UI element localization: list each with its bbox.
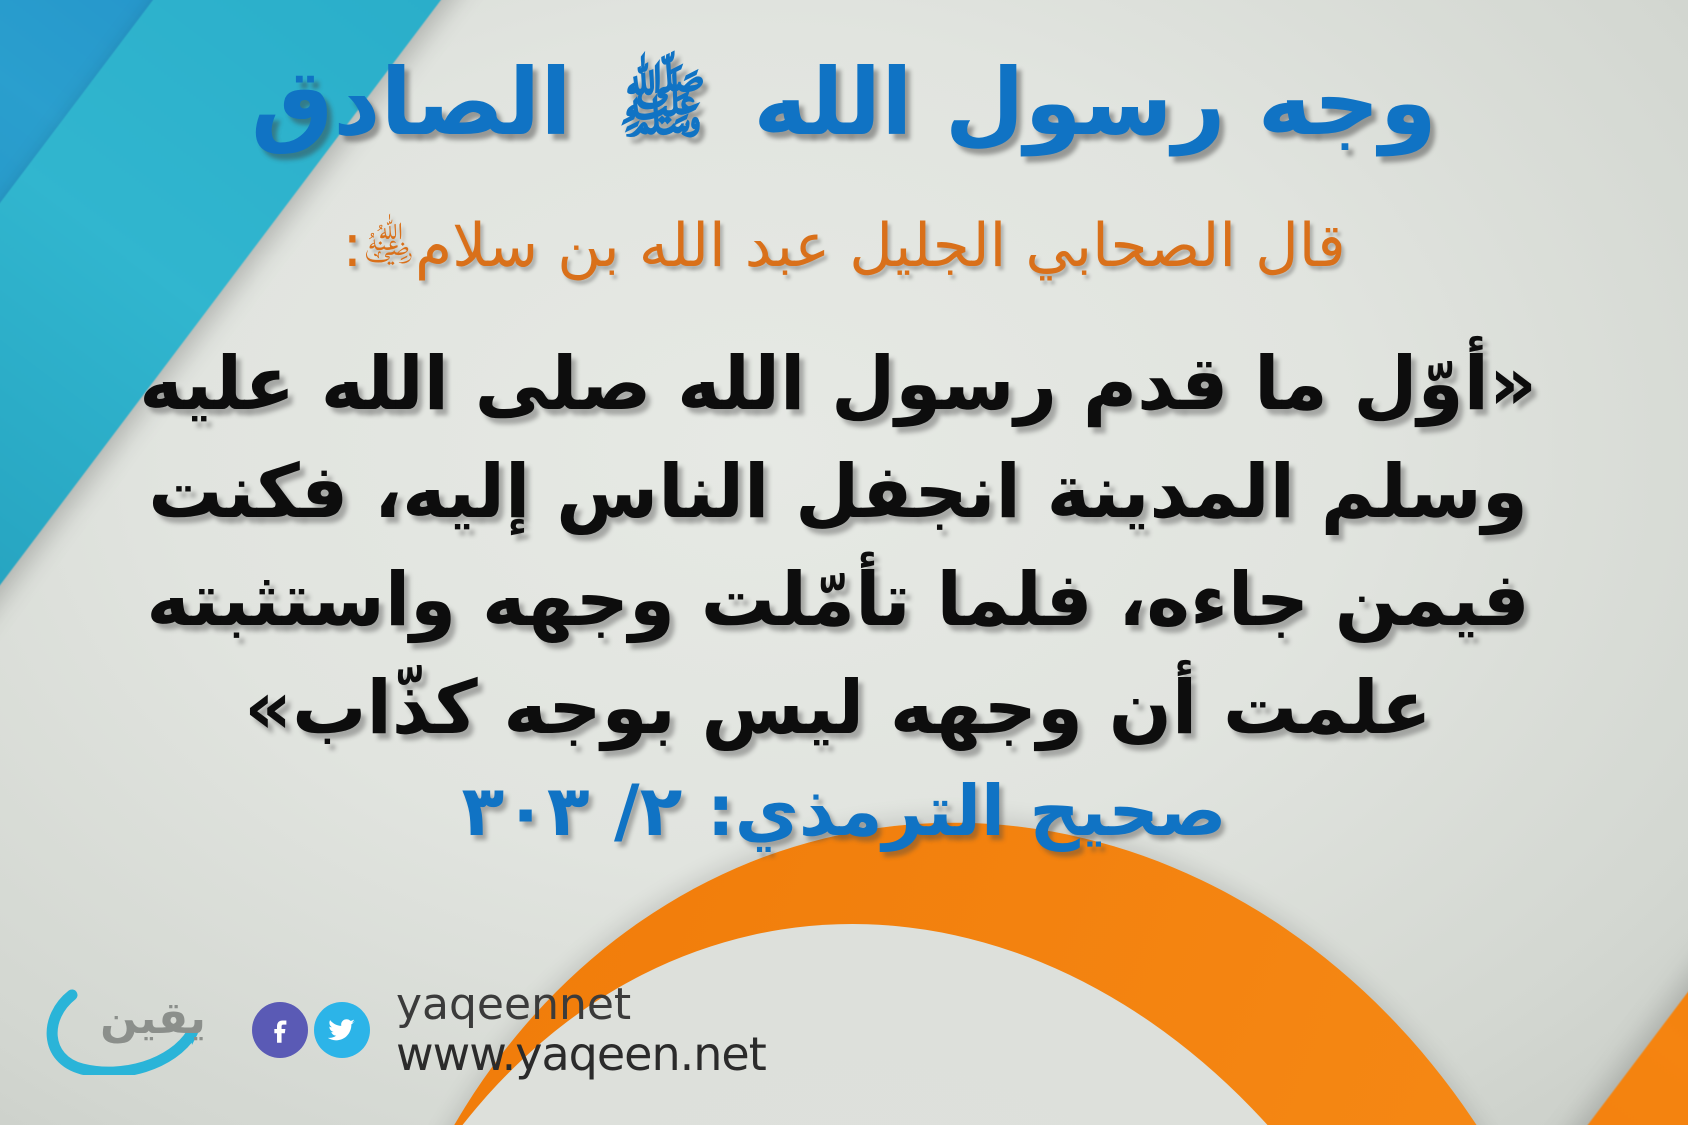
subtitle-colon: : (342, 211, 362, 281)
poster-content: وجه رسول الله ﷺ الصادق قال الصحابي الجلي… (0, 0, 1688, 1125)
footer-branding: يقين yaqeennet www.yaqeen.net (42, 981, 766, 1079)
logo-arabic-text: يقين (88, 993, 218, 1044)
title-before: وجه رسول الله (753, 49, 1437, 156)
radiyallahu-glyph-icon: ﵁ (362, 216, 415, 272)
page-title: وجه رسول الله ﷺ الصادق (0, 48, 1688, 158)
hadith-line: فيمن جاءه، فلما تأمّلت وجهه واستثبته (108, 546, 1568, 654)
social-handle: yaqeennet (396, 983, 766, 1027)
title-after: الصادق (251, 49, 572, 156)
hadith-body: «أوّل ما قدم رسول الله صلى الله عليه وسل… (108, 330, 1568, 762)
sallallahu-glyph-icon: ﷺ (618, 62, 707, 148)
narrator-attribution: قال الصحابي الجليل عبد الله بن سلام﵁: (0, 212, 1688, 281)
website-url: www.yaqeen.net (396, 1031, 766, 1077)
facebook-icon[interactable] (252, 1002, 308, 1058)
brand-handles: yaqeennet www.yaqeen.net (396, 983, 766, 1077)
poster-canvas: وجه رسول الله ﷺ الصادق قال الصحابي الجلي… (0, 0, 1688, 1125)
hadith-line: وسلم المدينة انجفل الناس إليه، فكنت (108, 438, 1568, 546)
hadith-line: «أوّل ما قدم رسول الله صلى الله عليه (108, 330, 1568, 438)
narrator-text: قال الصحابي الجليل عبد الله بن سلام (415, 211, 1346, 281)
source-citation: صحيح الترمذي: ٢/ ٣٠٣ (0, 770, 1688, 852)
twitter-icon[interactable] (314, 1002, 370, 1058)
yaqeen-logo: يقين (42, 981, 232, 1079)
social-icons (252, 1002, 370, 1058)
hadith-line: علمت أن وجهه ليس بوجه كذّاب» (108, 654, 1568, 762)
